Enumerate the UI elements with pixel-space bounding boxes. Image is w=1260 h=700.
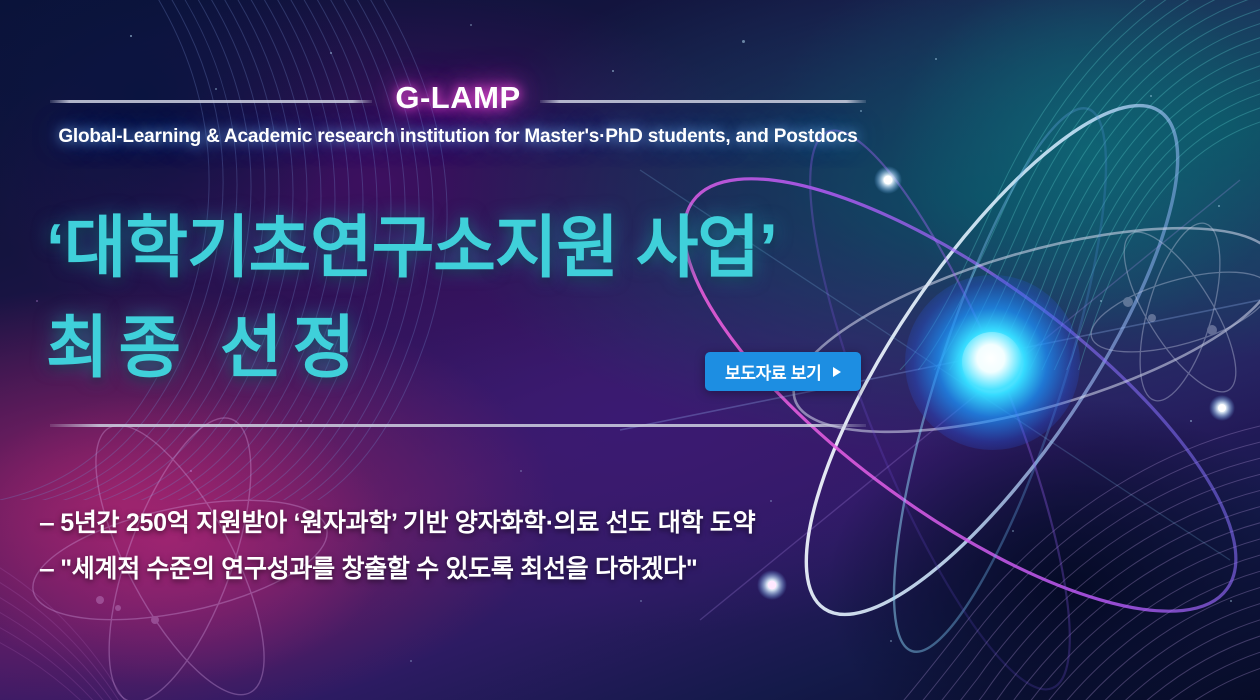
press-release-button-label: 보도자료 보기 (725, 359, 821, 384)
brand-title: G-LAMP (0, 80, 916, 116)
play-arrow-icon (833, 367, 841, 377)
headline-line-2: 최종 선정 (46, 292, 365, 391)
bullet-line-2: ‒ "세계적 수준의 연구성과를 창출할 수 있도록 최선을 다하겠다" (40, 549, 697, 585)
brand-subtitle: Global-Learning & Academic research inst… (0, 126, 916, 148)
headline-line-1: ‘대학기초연구소지원 사업’ (46, 192, 777, 291)
divider-bottom (50, 424, 866, 427)
banner-content: G-LAMP Global-Learning & Academic resear… (0, 0, 1260, 700)
glamp-promo-banner: G-LAMP Global-Learning & Academic resear… (0, 0, 1260, 700)
press-release-button[interactable]: 보도자료 보기 (705, 352, 861, 391)
bullet-line-1: ‒ 5년간 250억 지원받아 ‘원자과학’ 기반 양자화학·의료 선도 대학 … (40, 503, 755, 539)
